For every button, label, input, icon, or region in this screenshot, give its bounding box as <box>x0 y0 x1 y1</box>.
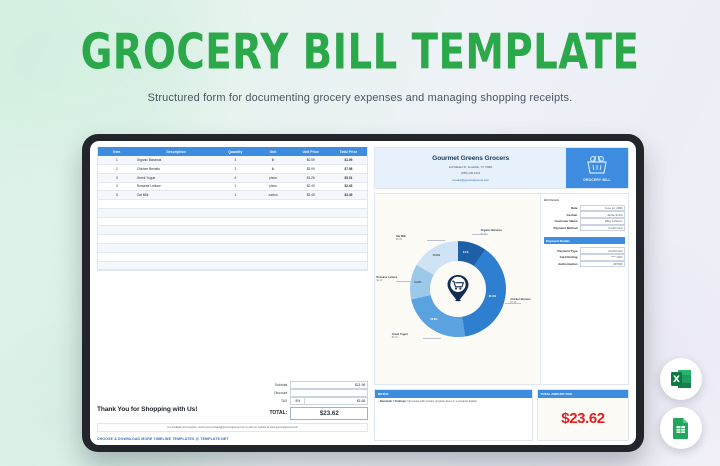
items-table-cell-empty <box>254 208 292 217</box>
items-table-cell: $2.49 <box>292 182 330 191</box>
notes-header: NOTES <box>375 390 532 398</box>
items-table-cell: 3 <box>216 156 254 164</box>
items-table-cell-empty <box>136 261 217 270</box>
page-subtitle: Structured form for documenting grocery … <box>0 92 720 104</box>
items-table-cell-empty <box>98 261 136 270</box>
excel-badge[interactable]: X <box>660 358 702 400</box>
spend-donut-chart: 9.1%36.3%22.8%11.3%15.9% Organic Bananas… <box>375 194 540 384</box>
donut-leader-line <box>423 338 441 339</box>
donut-segment-percent: 36.3% <box>489 295 496 298</box>
svg-text:X: X <box>673 375 680 385</box>
items-table-cell-empty <box>254 244 292 253</box>
amount-due-panel: TOTAL AMOUNT DUE $23.62 <box>537 389 629 441</box>
donut-leader-line <box>505 303 521 304</box>
items-table-col-header: Unit <box>254 147 292 156</box>
items-table-cell-empty <box>330 208 368 217</box>
subtotal-value[interactable]: $21.96 <box>290 381 368 389</box>
items-table-cell: $1.99 <box>330 156 368 164</box>
grand-total-row: TOTAL: $23.62 <box>256 407 368 420</box>
items-table-wrapper: ItemDescriptionQuantityUnitUnit PriceTot… <box>97 147 368 271</box>
payment-details-rows: Payment TypeCredit CardCard Ending**** 1… <box>544 247 625 267</box>
grocery-bill-document: ItemDescriptionQuantityUnitUnit PriceTot… <box>90 141 636 445</box>
items-table-cell-empty <box>98 200 136 209</box>
bill-detail-label: Payment Method <box>544 226 580 230</box>
store-name: Gourmet Greens Grocers <box>379 155 562 162</box>
table-row-empty[interactable] <box>98 244 367 253</box>
items-table-cell-empty <box>98 252 136 261</box>
bill-detail-row: DateJune 14, 2060 <box>544 205 625 212</box>
table-row-empty[interactable] <box>98 261 367 270</box>
items-table-cell-empty <box>136 208 217 217</box>
bill-details-title: Bill Details <box>544 198 625 202</box>
bill-detail-label: Cashier <box>544 213 580 217</box>
tax-amount: $1.66 <box>357 399 366 403</box>
store-email[interactable]: contact@gourmetgreens.com <box>379 178 562 182</box>
payment-details-header: Payment Details <box>544 237 625 244</box>
items-table-cell-empty <box>216 261 254 270</box>
items-table-cell: Organic Bananas <box>136 156 217 164</box>
google-sheets-icon <box>669 416 693 440</box>
items-table-cell-empty <box>330 244 368 253</box>
items-table-header-row: ItemDescriptionQuantityUnitUnit PriceTot… <box>98 147 367 156</box>
payment-detail-label: Payment Type <box>544 249 580 253</box>
subtotal-row: Subtotal $21.96 <box>256 381 368 389</box>
bill-detail-row: CashierJamie Smith <box>544 211 625 218</box>
donut-leader-line <box>472 234 488 235</box>
payment-detail-row: Card Ending**** 1234 <box>544 254 625 261</box>
discount-row: Discount <box>256 389 368 397</box>
app-badges: X <box>660 358 702 449</box>
excel-icon: X <box>669 367 693 391</box>
items-table-cell-empty <box>292 235 330 244</box>
bill-detail-label: Customer Name <box>544 219 580 223</box>
items-table-col-header: Unit Price <box>292 147 330 156</box>
items-table-col-header: Total Price <box>330 147 368 156</box>
items-table-cell: lb <box>254 156 292 164</box>
items-table-cell: 4 <box>98 182 136 191</box>
store-header: Gourmet Greens Grocers 123 Market St, Fo… <box>374 147 629 189</box>
totals-block: Subtotal $21.96 Discount TAX 8% $1.66 <box>256 381 368 420</box>
donut-segment-percent: 9.1% <box>463 251 469 254</box>
tax-percent: 8% <box>291 398 305 404</box>
table-row-empty[interactable] <box>98 208 367 217</box>
items-table-cell-empty <box>216 244 254 253</box>
bill-detail-value[interactable]: Jamie Smith <box>580 211 625 218</box>
discount-label: Discount <box>256 391 290 395</box>
tablet-mockup: ItemDescriptionQuantityUnitUnit PriceTot… <box>82 134 644 452</box>
document-left-column: ItemDescriptionQuantityUnitUnit PriceTot… <box>97 147 368 441</box>
table-row[interactable]: 5Oat Milk1carton$3.49$3.49 <box>98 191 367 200</box>
items-table-cell-empty <box>330 226 368 235</box>
table-row-empty[interactable] <box>98 235 367 244</box>
store-info: Gourmet Greens Grocers 123 Market St, Fo… <box>375 148 566 188</box>
items-table-cell-empty <box>254 200 292 209</box>
notes-bullet-label: Reminder / Findings: <box>380 400 407 403</box>
items-table-cell-empty <box>136 235 217 244</box>
amount-due-value: $23.62 <box>561 410 604 427</box>
items-table-cell: 5 <box>98 191 136 200</box>
items-table-cell: 1 <box>98 156 136 164</box>
grand-total-value: $23.62 <box>290 407 368 420</box>
payment-detail-value[interactable]: **** 1234 <box>580 254 625 261</box>
bill-details-rows: DateJune 14, 2060CashierJamie SmithCusto… <box>544 205 625 231</box>
table-row-empty[interactable] <box>98 226 367 235</box>
items-table-cell: $2.49 <box>330 182 368 191</box>
donut-legend-item: Oat Milk$3.49 <box>396 235 406 241</box>
chart-and-details: 9.1%36.3%22.8%11.3%15.9% Organic Bananas… <box>374 193 629 385</box>
items-table-cell-empty <box>254 235 292 244</box>
items-table-cell-empty <box>292 244 330 253</box>
items-table-cell-empty <box>98 208 136 217</box>
items-table-cell: Chicken Breasts <box>136 164 217 173</box>
grand-total-label: TOTAL: <box>256 410 290 416</box>
items-table-cell: $5.01 <box>330 173 368 182</box>
items-table-cell: $3.49 <box>292 191 330 200</box>
subtotal-label: Subtotal <box>256 383 290 387</box>
items-table-cell-empty <box>254 252 292 261</box>
items-table-cell-empty <box>136 217 217 226</box>
items-table-cell-empty <box>254 226 292 235</box>
payment-detail-row: Authorization007340 <box>544 261 625 268</box>
payment-detail-label: Card Ending <box>544 255 580 259</box>
amount-due-header: TOTAL AMOUNT DUE <box>538 390 628 398</box>
items-table: ItemDescriptionQuantityUnitUnit PriceTot… <box>98 147 367 270</box>
store-logo-caption: GROCERY BILL <box>583 178 611 182</box>
items-table-cell: $3.99 <box>292 164 330 173</box>
table-row[interactable]: 4Romaine Lettuce1piece$2.49$2.49 <box>98 182 367 191</box>
items-table-cell-empty <box>330 217 368 226</box>
items-table-cell-empty <box>216 226 254 235</box>
sheets-badge[interactable] <box>660 407 702 449</box>
items-table-cell: Romaine Lettuce <box>136 182 217 191</box>
items-table-cell: 2 <box>216 164 254 173</box>
items-table-cell: $7.98 <box>330 164 368 173</box>
page-header: GROCERY BILL TEMPLATE Structured form fo… <box>0 30 720 104</box>
items-table-cell-empty <box>136 252 217 261</box>
payment-detail-label: Authorization <box>544 262 580 266</box>
bill-detail-value[interactable]: Riley Johnson <box>580 218 625 225</box>
donut-legend-item: Romaine Lettuce$2.49 <box>376 276 397 282</box>
bill-detail-value[interactable]: June 14, 2060 <box>580 205 625 212</box>
items-table-cell: $1.25 <box>292 173 330 182</box>
items-table-cell: 1 <box>216 191 254 200</box>
items-table-cell-empty <box>136 244 217 253</box>
tax-value-cell[interactable]: 8% $1.66 <box>290 397 368 405</box>
template-footer-link[interactable]: CHOOSE & DOWNLOAD MORE TIMELINE TEMPLATE… <box>97 437 368 441</box>
items-table-cell-empty <box>292 217 330 226</box>
shopping-cart-icon <box>446 274 470 304</box>
items-table-cell: 4 <box>216 173 254 182</box>
notes-and-due: NOTES • Reminder / Findings: No issues w… <box>374 389 629 441</box>
table-row[interactable]: 3Greek Yogurt4piece$1.25$5.01 <box>98 173 367 182</box>
donut-center <box>430 261 486 317</box>
amount-due-body: $23.62 <box>538 398 628 440</box>
tablet-screen: ItemDescriptionQuantityUnitUnit PriceTot… <box>90 141 636 445</box>
items-table-cell-empty <box>330 235 368 244</box>
items-table-cell-empty <box>136 200 217 209</box>
items-table-body: 1Organic Bananas3lb$0.59$1.992Chicken Br… <box>98 156 367 270</box>
items-table-cell-empty <box>136 226 217 235</box>
items-table-cell: Oat Milk <box>136 191 217 200</box>
table-row-empty[interactable] <box>98 200 367 209</box>
shopping-basket-icon <box>584 154 610 176</box>
bill-detail-value[interactable]: Credit Card <box>580 225 625 232</box>
donut-segment-percent: 22.8% <box>430 318 437 321</box>
store-logo: GROCERY BILL <box>566 148 628 188</box>
items-table-cell-empty <box>292 226 330 235</box>
donut-segment-percent: 15.9% <box>433 254 440 257</box>
items-table-cell-empty <box>216 235 254 244</box>
items-table-cell-empty <box>216 200 254 209</box>
table-row[interactable]: 1Organic Bananas3lb$0.59$1.99 <box>98 156 367 164</box>
discount-value[interactable] <box>290 389 368 397</box>
items-table-col-header: Item <box>98 147 136 156</box>
items-table-col-header: Description <box>136 147 217 156</box>
bill-detail-row: Customer NameRiley Johnson <box>544 218 625 225</box>
table-row[interactable]: 2Chicken Breasts2lb$3.99$7.98 <box>98 164 367 173</box>
items-table-cell: 2 <box>98 164 136 173</box>
tax-label: TAX <box>256 399 290 403</box>
payment-detail-value[interactable]: Credit Card <box>580 247 625 254</box>
notes-bullet-text: No issues with receipt; program items in… <box>407 400 478 403</box>
items-table-cell-empty <box>292 261 330 270</box>
document-right-column: Gourmet Greens Grocers 123 Market St, Fo… <box>374 147 629 441</box>
items-table-cell-empty <box>98 235 136 244</box>
items-table-cell-empty <box>330 252 368 261</box>
table-row-empty[interactable] <box>98 252 367 261</box>
items-table-cell: $0.59 <box>292 156 330 164</box>
donut-segment-percent: 11.3% <box>414 281 421 284</box>
items-table-cell: lb <box>254 164 292 173</box>
items-table-cell: carton <box>254 191 292 200</box>
store-phone: (555) 246-1010 <box>379 171 562 175</box>
items-table-cell-empty <box>216 208 254 217</box>
items-table-cell: 3 <box>98 173 136 182</box>
items-table-cell: piece <box>254 173 292 182</box>
items-table-cell-empty <box>216 252 254 261</box>
items-table-cell: Greek Yogurt <box>136 173 217 182</box>
store-address: 123 Market St, Foodville, TX 75001 <box>379 165 562 169</box>
page-title: GROCERY BILL TEMPLATE <box>43 27 677 79</box>
items-table-cell: piece <box>254 182 292 191</box>
items-table-cell-empty <box>292 252 330 261</box>
bill-detail-label: Date <box>544 206 580 210</box>
bill-details-pane: Bill Details DateJune 14, 2060CashierJam… <box>540 194 628 384</box>
items-table-cell-empty <box>330 261 368 270</box>
payment-detail-row: Payment TypeCredit Card <box>544 247 625 254</box>
items-table-cell-empty <box>254 217 292 226</box>
donut-wrapper: 9.1%36.3%22.8%11.3%15.9% <box>410 241 506 337</box>
bill-detail-row: Payment MethodCredit Card <box>544 225 625 232</box>
donut-legend-item: Greek Yogurt$5.01 <box>392 333 408 339</box>
items-table-cell-empty <box>98 244 136 253</box>
items-table-cell-empty <box>98 217 136 226</box>
items-table-cell-empty <box>292 200 330 209</box>
table-row-empty[interactable] <box>98 217 367 226</box>
items-table-cell: 1 <box>216 182 254 191</box>
notes-panel: NOTES • Reminder / Findings: No issues w… <box>374 389 533 441</box>
items-table-cell-empty <box>292 208 330 217</box>
tax-row: TAX 8% $1.66 <box>256 397 368 405</box>
items-table-cell-empty <box>98 226 136 235</box>
totals-section: Thank You for Shopping with Us! Subtotal… <box>97 381 368 423</box>
notes-body[interactable]: • Reminder / Findings: No issues with re… <box>375 398 532 406</box>
items-table-cell-empty <box>216 217 254 226</box>
donut-leader-line <box>427 240 445 241</box>
items-table-cell: $3.49 <box>330 191 368 200</box>
items-table-cell-empty <box>330 200 368 209</box>
items-table-col-header: Quantity <box>216 147 254 156</box>
feedback-note: For feedback and inquiries, reach out at… <box>97 423 368 432</box>
donut-leader-line <box>396 281 414 282</box>
items-table-cell-empty <box>254 261 292 270</box>
thank-you-message: Thank You for Shopping with Us! <box>97 406 252 420</box>
payment-detail-value[interactable]: 007340 <box>580 261 625 268</box>
